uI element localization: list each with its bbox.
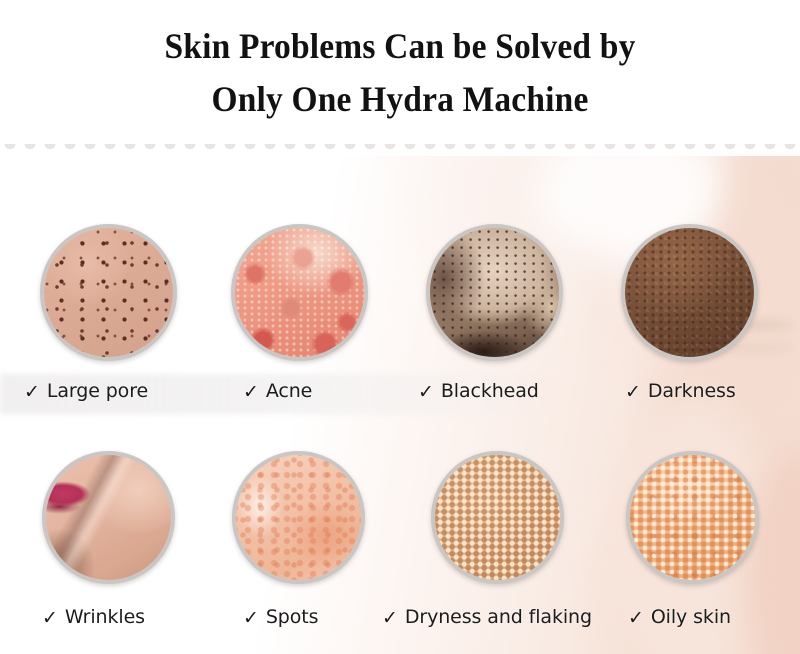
label-text: Blackhead	[441, 382, 539, 401]
skin-problem-label-blackhead: ✓ Blackhead	[418, 382, 539, 401]
check-icon: ✓	[382, 609, 398, 628]
skin-texture-wrinkles-icon	[42, 451, 175, 584]
skin-texture-spots-icon	[232, 451, 365, 584]
skin-texture-darkness-icon	[621, 224, 758, 361]
check-icon: ✓	[628, 609, 644, 628]
check-icon: ✓	[625, 383, 641, 402]
page-title: Skin Problems Can be Solved by Only One …	[28, 20, 772, 126]
skin-problem-label-oily-skin: ✓ Oily skin	[628, 608, 731, 627]
check-icon: ✓	[42, 609, 58, 628]
title-line-2: Only One Hydra Machine	[28, 73, 772, 126]
check-icon: ✓	[243, 609, 259, 628]
title-line-1: Skin Problems Can be Solved by	[28, 20, 772, 73]
label-text: Acne	[266, 382, 312, 401]
skin-texture-oily-skin-icon	[626, 451, 759, 584]
label-text: Darkness	[648, 382, 736, 401]
title-band: Skin Problems Can be Solved by Only One …	[0, 0, 800, 150]
skin-problem-label-acne: ✓ Acne	[243, 382, 312, 401]
skin-texture-dryness-icon	[431, 451, 564, 584]
label-text: Large pore	[47, 382, 148, 401]
skin-problem-label-wrinkles: ✓ Wrinkles	[42, 608, 145, 627]
label-text: Oily skin	[651, 608, 731, 627]
skin-problem-label-dryness: ✓ Dryness and flaking	[382, 608, 592, 627]
scallop-divider	[0, 144, 800, 156]
skin-texture-blackhead-icon	[426, 224, 563, 361]
label-text: Spots	[266, 608, 319, 627]
label-text: Wrinkles	[65, 608, 145, 627]
check-icon: ✓	[24, 383, 40, 402]
skin-problems-poster: Skin Problems Can be Solved by Only One …	[0, 0, 800, 654]
skin-texture-large-pore-icon	[40, 224, 177, 361]
check-icon: ✓	[243, 383, 259, 402]
skin-problem-label-large-pore: ✓ Large pore	[24, 382, 148, 401]
check-icon: ✓	[418, 383, 434, 402]
label-text: Dryness and flaking	[405, 608, 592, 627]
skin-problem-label-spots: ✓ Spots	[243, 608, 318, 627]
skin-problem-label-darkness: ✓ Darkness	[625, 382, 736, 401]
skin-texture-acne-icon	[231, 224, 368, 361]
